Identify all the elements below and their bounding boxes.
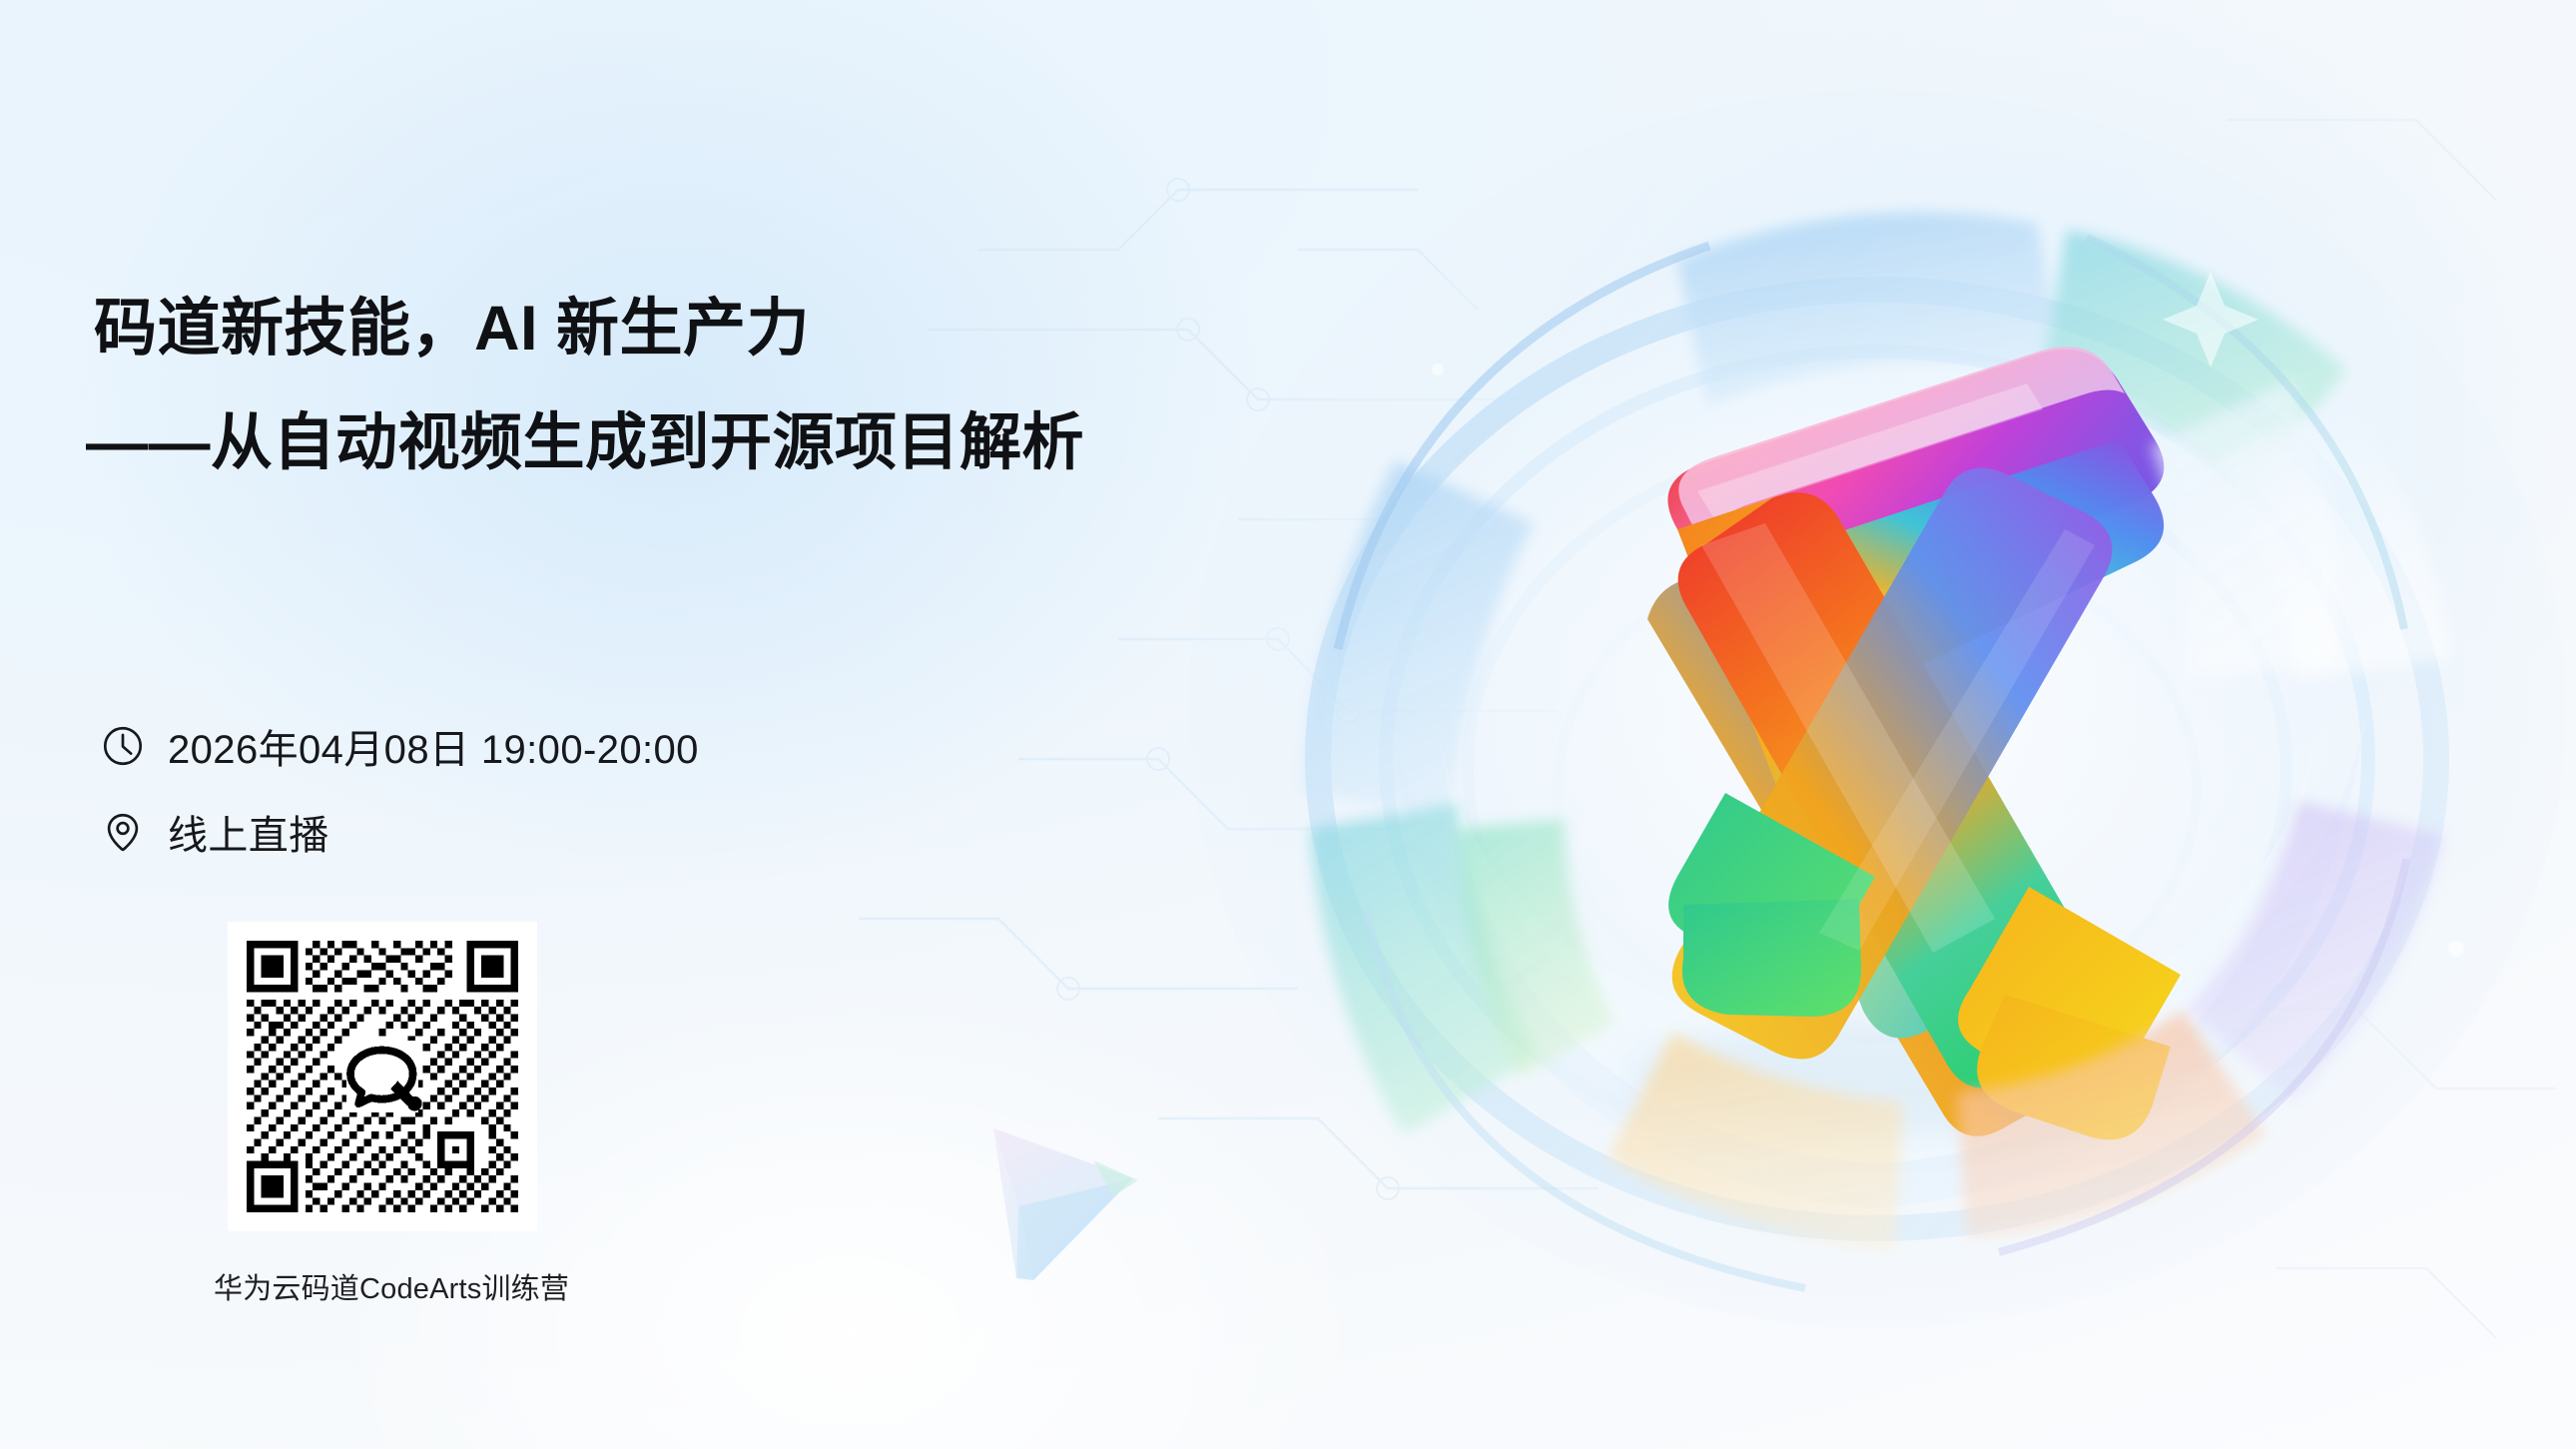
codearts-emblem-illustration [1138,70,2576,1428]
content-column: 码道新技能，AI 新生产力 ——从自动视频生成到开源项目解析 2026年04月0… [0,0,1198,1449]
event-location-text: 线上直播 [168,803,329,861]
clock-icon [100,723,146,769]
title-line-secondary: ——从自动视频生成到开源项目解析 [86,412,1152,474]
event-datetime-text: 2026年04月08日 19:00-20:00 [168,717,699,775]
title-line-primary: 码道新技能，AI 新生产力 [94,298,1152,361]
qr-code[interactable] [228,922,537,1231]
qr-caption: 华为云码道CodeArts训练营 [214,1265,523,1307]
promo-poster: 码道新技能，AI 新生产力 ——从自动视频生成到开源项目解析 2026年04月0… [0,0,2576,1449]
event-datetime-row: 2026年04月08日 19:00-20:00 [100,717,699,775]
event-meta: 2026年04月08日 19:00-20:00 线上直播 [100,717,699,889]
event-location-row: 线上直播 [100,803,699,861]
hero-artwork [1138,70,2576,1428]
qr-code-matrix[interactable] [247,941,518,1212]
location-pin-icon [100,809,146,855]
qr-block: 华为云码道CodeArts训练营 [228,922,537,1307]
page-title: 码道新技能，AI 新生产力 ——从自动视频生成到开源项目解析 [94,298,1152,474]
